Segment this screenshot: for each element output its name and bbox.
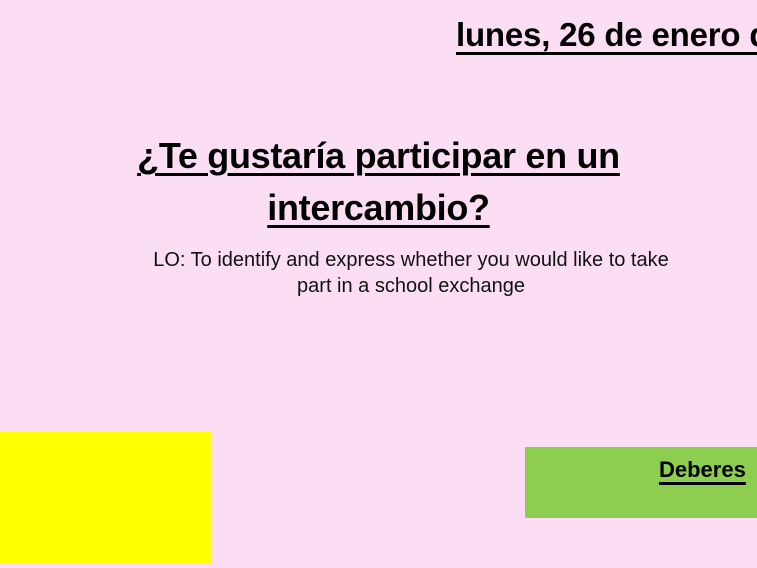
title-line-2-text: intercambio?	[267, 187, 489, 228]
slide-canvas: lunes, 26 de enero de ¿Te gustaría parti…	[0, 0, 757, 568]
phrase-of-the-day-box: Phrase of the day: Cuesta un ojo de la c…	[0, 432, 212, 563]
learning-objective: LO: To identify and express whether you …	[135, 247, 687, 299]
homework-box: Deberes	[525, 447, 757, 518]
date-row: lunes, 26 de enero de	[0, 12, 757, 68]
phrase-box-phrase: Cuesta un ojo de la cara	[0, 470, 202, 502]
phrase-box-heading: Phrase of the day:	[0, 438, 202, 470]
page-title: ¿Te gustaría participar en un intercambi…	[0, 130, 757, 234]
slide-date: lunes, 26 de enero de	[456, 12, 757, 58]
title-line-1-text: ¿Te gustaría participar en un	[137, 135, 620, 176]
homework-label: Deberes	[659, 455, 746, 485]
phrase-box-translation: (It cost an arm and a leg)	[0, 530, 202, 560]
title-line-2: intercambio?	[0, 182, 757, 234]
title-line-1: ¿Te gustaría participar en un	[0, 130, 757, 182]
